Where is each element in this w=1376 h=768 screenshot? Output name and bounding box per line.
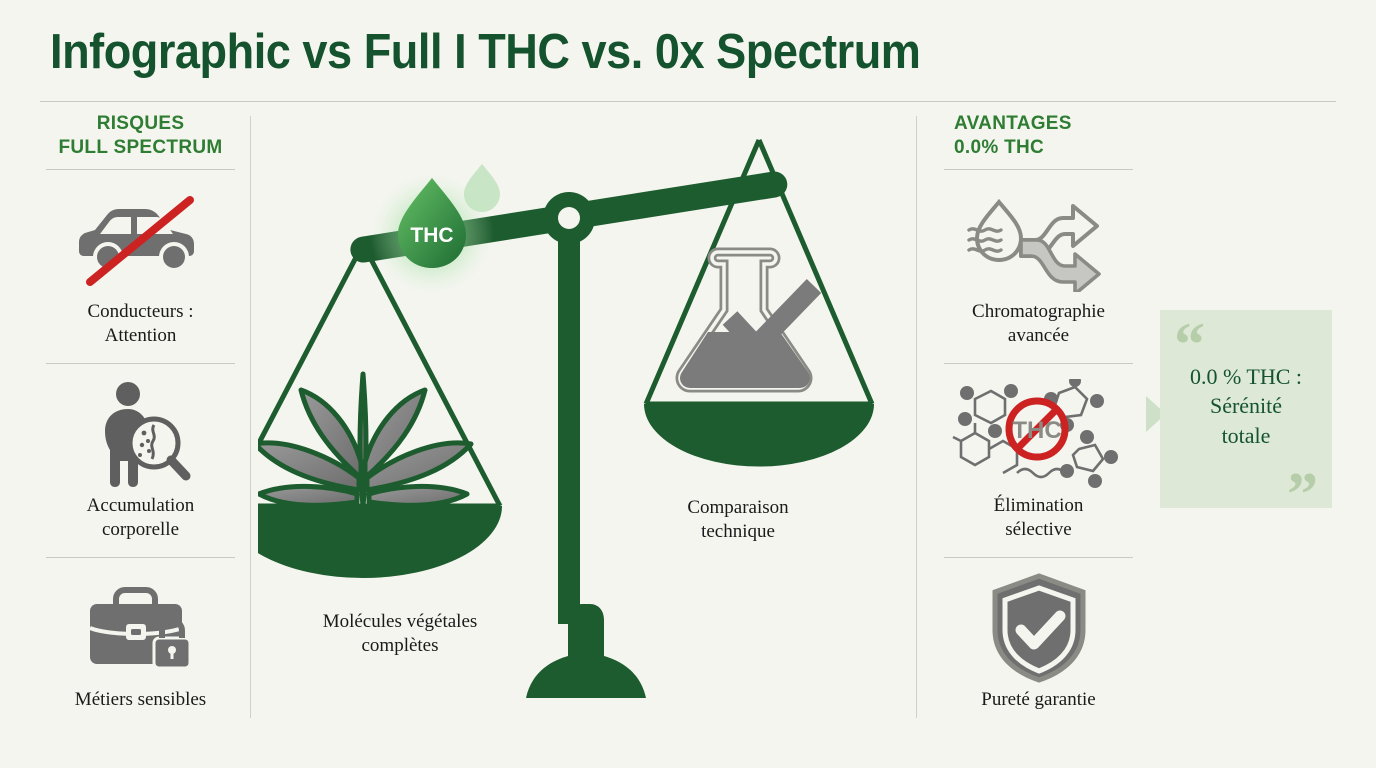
benefits-column: AVANTAGES 0.0% THC Chromatograph <box>936 112 1141 712</box>
car-no-driving-icon <box>38 184 243 296</box>
risk-accumulation-line2: corporelle <box>38 518 243 542</box>
benefit-item-elimination[interactable]: THC Élimination sélective <box>936 364 1141 558</box>
risks-column: RISQUES FULL SPECTRUM <box>38 112 243 712</box>
quote-card: “ 0.0 % THC : Sérénité totale ” <box>1160 310 1332 508</box>
molecules-no-thc-icon: THC <box>936 378 1141 490</box>
risk-item-drivers[interactable]: Conducteurs : Attention <box>38 170 243 364</box>
risks-heading-line2: FULL SPECTRUM <box>38 136 243 160</box>
benefit-item-chromatography[interactable]: Chromatographie avancée <box>936 170 1141 364</box>
risk-item-sensitive-jobs-label: Métiers sensibles <box>38 688 243 712</box>
scale-left-pan-label: Molécules végétales complètes <box>280 610 520 658</box>
benefit-purity-line1: Pureté garantie <box>936 688 1141 712</box>
risk-item-accumulation-label: Accumulation corporelle <box>38 494 243 542</box>
shield-check-icon <box>936 572 1141 684</box>
column-divider-left <box>250 116 251 718</box>
benefit-elimination-line2: sélective <box>936 518 1141 542</box>
scale-right-pan-label: Comparaison technique <box>618 496 858 544</box>
benefits-column-heading: AVANTAGES 0.0% THC <box>936 112 1141 159</box>
quote-text: 0.0 % THC : Sérénité totale <box>1160 362 1332 450</box>
risk-drivers-line1: Conducteurs : <box>38 300 243 324</box>
infographic-canvas: Infographic vs Full I THC vs. 0x Spectru… <box>0 0 1376 768</box>
risk-item-sensitive-jobs[interactable]: Métiers sensibles <box>38 558 243 712</box>
risk-accumulation-line1: Accumulation <box>38 494 243 518</box>
risks-column-heading: RISQUES FULL SPECTRUM <box>38 112 243 159</box>
benefit-item-chromatography-label: Chromatographie avancée <box>936 300 1141 348</box>
risk-jobs-line1: Métiers sensibles <box>38 688 243 712</box>
quote-line2: Sérénité <box>1174 391 1318 420</box>
body-accumulation-icon <box>38 378 243 490</box>
right-pan-line1: Comparaison <box>618 496 858 520</box>
right-pan-line2: technique <box>618 520 858 544</box>
thc-droplet-label: THC <box>410 224 453 247</box>
risk-item-drivers-label: Conducteurs : Attention <box>38 300 243 348</box>
risks-heading-line1: RISQUES <box>38 112 243 136</box>
quote-line1: 0.0 % THC : <box>1174 362 1318 391</box>
benefit-item-purity[interactable]: Pureté garantie <box>936 558 1141 712</box>
left-pan-line2: complètes <box>280 634 520 658</box>
left-pan-line1: Molécules végétales <box>280 610 520 634</box>
column-divider-right <box>916 116 917 718</box>
quote-close-mark: ” <box>1287 464 1318 526</box>
droplet-split-arrows-icon <box>936 184 1141 296</box>
scale-stand <box>526 204 646 698</box>
benefit-chromato-line2: avancée <box>936 324 1141 348</box>
balance-scale-illustration: THC Molécules végétales complètes <box>258 116 914 718</box>
quote-line3: totale <box>1174 421 1318 450</box>
risk-item-accumulation[interactable]: Accumulation corporelle <box>38 364 243 558</box>
scale-pivot <box>543 192 595 244</box>
svg-text:THC: THC <box>1012 417 1061 444</box>
briefcase-lock-icon <box>38 572 243 684</box>
benefit-elimination-line1: Élimination <box>936 494 1141 518</box>
title-divider <box>40 101 1336 102</box>
benefit-item-purity-label: Pureté garantie <box>936 688 1141 712</box>
risk-drivers-line2: Attention <box>38 324 243 348</box>
benefit-chromato-line1: Chromatographie <box>936 300 1141 324</box>
benefits-heading-line1: AVANTAGES <box>954 112 1141 136</box>
scale-pan-left <box>258 244 502 578</box>
page-title: Infographic vs Full I THC vs. 0x Spectru… <box>50 24 920 80</box>
benefits-heading-line2: 0.0% THC <box>954 136 1141 160</box>
thc-droplet-badge: THC <box>370 164 500 296</box>
benefit-item-elimination-label: Élimination sélective <box>936 494 1141 542</box>
